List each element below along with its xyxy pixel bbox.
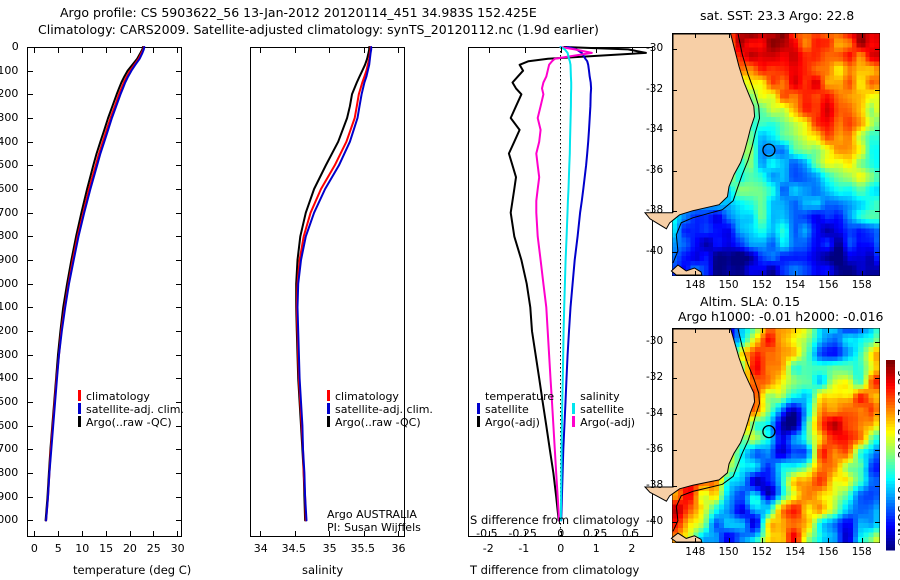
map-lat-label: -38 — [646, 479, 663, 491]
depth-tick — [27, 520, 33, 521]
legend-color-swatch — [477, 403, 480, 414]
map-lon-tick — [729, 271, 730, 276]
depth-tick-label: 1600 — [0, 419, 18, 432]
depth-tick — [27, 284, 33, 285]
legend-label: Argo(-adj) — [580, 416, 635, 429]
axis-tick — [177, 531, 178, 537]
axis-tick — [398, 47, 399, 53]
depth-tick — [176, 213, 182, 214]
depth-tick-label: 1100 — [0, 300, 18, 313]
depth-tick — [27, 473, 33, 474]
map-lat-tick — [875, 414, 880, 415]
axis-tick — [295, 531, 296, 537]
map-lat-tick — [875, 49, 880, 50]
legend-color-swatch — [477, 416, 480, 427]
depth-tick-label: 600 — [0, 182, 18, 195]
depth-tick — [27, 355, 33, 356]
axis-tick — [130, 47, 131, 53]
legend-item: satellite — [572, 403, 635, 416]
map-lat-tick — [672, 414, 677, 415]
depth-tick-label: 200 — [0, 87, 18, 100]
s-difference-axis-label: S difference from climatology — [470, 513, 640, 527]
axis-tick — [525, 531, 526, 537]
map-lat-tick — [672, 171, 677, 172]
legend-color-swatch — [327, 416, 330, 427]
axis-tick — [130, 531, 131, 537]
depth-tick — [27, 189, 33, 190]
map-lat-tick — [875, 522, 880, 523]
map-lat-tick — [672, 342, 677, 343]
map-lat-tick — [672, 378, 677, 379]
difference-legend: temperaturesatelliteArgo(-adj)salinitysa… — [477, 390, 635, 429]
map-lat-label: -30 — [646, 335, 663, 347]
depth-tick — [176, 449, 182, 450]
axis-tick — [525, 47, 526, 53]
depth-tick-label: 1700 — [0, 442, 18, 455]
axis-tick — [561, 47, 562, 53]
axis-tick-label: 35 — [323, 542, 337, 555]
map-lat-label: -36 — [646, 164, 663, 176]
depth-tick — [27, 236, 33, 237]
axis-tick-label: 2 — [628, 542, 635, 555]
depth-tick — [176, 497, 182, 498]
legend-label: satellite-adj. clim. — [335, 403, 433, 416]
axis-tick-label: 5 — [55, 542, 62, 555]
depth-tick-label: 2000 — [0, 513, 18, 526]
map-lon-tick — [762, 271, 763, 276]
map-lat-tick — [875, 130, 880, 131]
depth-tick — [27, 213, 33, 214]
axis-tick — [177, 47, 178, 53]
axis-tick — [153, 531, 154, 537]
axis-tick-label: 15 — [99, 542, 113, 555]
map-lon-label: 158 — [852, 279, 872, 291]
map-lat-tick — [875, 342, 880, 343]
legend-label: satellite — [485, 403, 529, 416]
depth-tick-label: 1000 — [0, 277, 18, 290]
sla-map-title-line1: Altim. SLA: 0.15 — [700, 294, 800, 309]
map-lon-label: 150 — [719, 279, 739, 291]
depth-tick — [27, 71, 33, 72]
map-lon-tick — [828, 328, 829, 333]
map-lat-tick — [875, 171, 880, 172]
sla-map-title-line2: Argo h1000: -0.01 h2000: -0.016 — [678, 309, 883, 324]
s-axis-tick-label: 0.5 — [622, 527, 640, 540]
salinity-axis-label: salinity — [302, 563, 343, 577]
depth-tick — [176, 142, 182, 143]
axis-tick-label: 34 — [254, 542, 268, 555]
map-lon-tick — [729, 538, 730, 543]
map-lat-label: -38 — [646, 204, 663, 216]
page-title-line2: Climatology: CARS2009. Satellite-adjuste… — [38, 22, 599, 37]
map-lon-tick — [862, 538, 863, 543]
axis-tick-label: 0 — [31, 542, 38, 555]
colorbar — [886, 360, 895, 550]
map-lon-tick — [862, 328, 863, 333]
axis-tick-label: 0 — [557, 542, 564, 555]
depth-tick — [27, 118, 33, 119]
map-lat-tick — [875, 486, 880, 487]
depth-tick — [27, 497, 33, 498]
map-lat-tick — [875, 252, 880, 253]
legend-item: satellite — [477, 403, 554, 416]
axis-tick — [82, 531, 83, 537]
axis-tick — [106, 47, 107, 53]
depth-tick — [27, 378, 33, 379]
legend-item: Argo(-adj) — [572, 416, 635, 429]
axis-tick — [58, 47, 59, 53]
legend-color-swatch — [78, 403, 81, 414]
map-lon-label: 148 — [685, 546, 705, 558]
axis-tick — [489, 47, 490, 53]
s-axis-tick-label: -0.25 — [508, 527, 536, 540]
map-lat-tick — [875, 211, 880, 212]
map-lon-tick — [762, 538, 763, 543]
depth-tick — [27, 307, 33, 308]
axis-tick — [561, 531, 562, 537]
legend-color-swatch — [572, 403, 575, 414]
legend-label: Argo(-adj) — [485, 416, 540, 429]
map-lon-tick — [762, 33, 763, 38]
depth-tick — [27, 426, 33, 427]
legend-group-heading: temperature — [485, 390, 554, 403]
legend-item: climatology — [327, 390, 433, 403]
axis-tick — [34, 47, 35, 53]
depth-tick — [176, 331, 182, 332]
map-lat-tick — [672, 90, 677, 91]
map-lat-tick — [672, 130, 677, 131]
axis-tick — [82, 47, 83, 53]
legend-label: Argo(..raw -QC) — [335, 416, 421, 429]
depth-tick — [27, 331, 33, 332]
map-lon-tick — [862, 271, 863, 276]
legend-group: temperaturesatelliteArgo(-adj) — [477, 390, 554, 429]
map-lon-label: 150 — [719, 546, 739, 558]
axis-tick — [364, 47, 365, 53]
sst-map[interactable] — [672, 33, 880, 276]
legend-group-heading: salinity — [580, 390, 635, 403]
map-lat-label: -32 — [646, 371, 663, 383]
map-lon-label: 152 — [752, 279, 772, 291]
map-lat-label: -32 — [646, 83, 663, 95]
depth-tick — [176, 284, 182, 285]
axis-tick — [58, 531, 59, 537]
map-lon-tick — [762, 328, 763, 333]
map-lat-label: -40 — [646, 515, 663, 527]
map-lat-tick — [672, 252, 677, 253]
axis-tick-label: 10 — [75, 542, 89, 555]
legend-label: climatology — [335, 390, 399, 403]
depth-tick-label: 500 — [0, 158, 18, 171]
temperature-axis-label: temperature (deg C) — [73, 563, 191, 577]
depth-tick — [176, 260, 182, 261]
legend-item: Argo(-adj) — [477, 416, 554, 429]
depth-tick-label: 900 — [0, 253, 18, 266]
axis-tick-label: 36 — [392, 542, 406, 555]
legend-label: satellite — [580, 403, 624, 416]
map-lon-tick — [828, 33, 829, 38]
map-lat-label: -30 — [646, 42, 663, 54]
depth-tick — [176, 236, 182, 237]
legend-color-swatch — [78, 416, 81, 427]
map-lon-label: 158 — [852, 546, 872, 558]
map-lat-tick — [672, 486, 677, 487]
axis-tick — [153, 47, 154, 53]
axis-tick — [632, 47, 633, 53]
legend-item: Argo(..raw -QC) — [327, 416, 433, 429]
axis-tick-label: -2 — [483, 542, 494, 555]
map-lon-tick — [729, 328, 730, 333]
map-lon-tick — [729, 33, 730, 38]
depth-tick-label: 1900 — [0, 490, 18, 503]
axis-tick — [295, 47, 296, 53]
map-lat-tick — [875, 90, 880, 91]
depth-tick — [27, 449, 33, 450]
depth-tick-label: 1500 — [0, 395, 18, 408]
salinity-legend: climatologysatellite-adj. clim.Argo(..ra… — [327, 390, 433, 429]
axis-tick-label: -1 — [518, 542, 529, 555]
depth-tick-label: 100 — [0, 64, 18, 77]
legend-color-swatch — [327, 390, 330, 401]
map-lon-tick — [828, 271, 829, 276]
page-title-line1: Argo profile: CS 5903622_56 13-Jan-2012 … — [60, 5, 537, 20]
map-lon-tick — [862, 33, 863, 38]
map-lat-tick — [672, 450, 677, 451]
depth-tick — [176, 71, 182, 72]
map-lon-label: 156 — [818, 279, 838, 291]
axis-tick — [260, 531, 261, 537]
depth-tick-label: 1300 — [0, 348, 18, 361]
map-lat-tick — [672, 211, 677, 212]
depth-tick-label: 1800 — [0, 466, 18, 479]
s-axis-tick-label: -0.5 — [476, 527, 497, 540]
map-lon-tick — [695, 328, 696, 333]
depth-tick — [27, 165, 33, 166]
map-lat-tick — [672, 522, 677, 523]
depth-tick-label: 0 — [12, 40, 19, 53]
map-lon-tick — [695, 271, 696, 276]
agency-line1: Argo AUSTRALIA — [327, 508, 417, 521]
credit-text: ©IMOS 18-Jan-2012 17:01:26 — [896, 370, 900, 548]
temperature-plot — [27, 47, 182, 537]
legend-item: Argo(..raw -QC) — [78, 416, 184, 429]
axis-tick-label: 34.5 — [282, 542, 307, 555]
map-lat-label: -34 — [646, 407, 663, 419]
axis-tick — [34, 531, 35, 537]
depth-tick — [176, 378, 182, 379]
map-lon-tick — [795, 271, 796, 276]
map-lat-tick — [672, 49, 677, 50]
map-lon-tick — [795, 328, 796, 333]
axis-tick-label: 25 — [147, 542, 161, 555]
map-lon-label: 148 — [685, 279, 705, 291]
map-lat-label: -34 — [646, 123, 663, 135]
map-lon-label: 156 — [818, 546, 838, 558]
depth-tick — [176, 118, 182, 119]
map-lon-label: 152 — [752, 546, 772, 558]
map-lat-label: -36 — [646, 443, 663, 455]
depth-tick — [176, 355, 182, 356]
legend-item: climatology — [78, 390, 184, 403]
depth-tick — [27, 47, 33, 48]
depth-tick — [176, 94, 182, 95]
salinity-plot — [250, 47, 405, 537]
temperature-legend: climatologysatellite-adj. clim.Argo(..ra… — [78, 390, 184, 429]
map-lon-tick — [695, 33, 696, 38]
axis-tick-label: 35.5 — [350, 542, 375, 555]
depth-tick — [27, 142, 33, 143]
legend-item: satellite-adj. clim. — [78, 403, 184, 416]
axis-tick — [596, 531, 597, 537]
depth-tick-label: 800 — [0, 229, 18, 242]
axis-tick — [632, 531, 633, 537]
depth-tick-label: 1400 — [0, 371, 18, 384]
depth-tick — [176, 189, 182, 190]
map-lon-label: 154 — [785, 279, 805, 291]
map-lon-label: 154 — [785, 546, 805, 558]
axis-tick-label: 30 — [171, 542, 185, 555]
legend-label: climatology — [86, 390, 150, 403]
map-lat-tick — [875, 378, 880, 379]
depth-tick-label: 1200 — [0, 324, 18, 337]
depth-tick-label: 700 — [0, 206, 18, 219]
map-lat-tick — [875, 450, 880, 451]
difference-plot — [468, 47, 653, 537]
legend-color-swatch — [78, 390, 81, 401]
legend-label: satellite-adj. clim. — [86, 403, 184, 416]
depth-tick-label: 400 — [0, 135, 18, 148]
depth-tick — [176, 520, 182, 521]
legend-label: Argo(..raw -QC) — [86, 416, 172, 429]
legend-group: salinitysatelliteArgo(-adj) — [572, 390, 635, 429]
axis-tick-label: 20 — [123, 542, 137, 555]
map-lon-tick — [795, 538, 796, 543]
depth-tick-label: 300 — [0, 111, 18, 124]
agency-line2: PI: Susan Wijffels — [327, 521, 421, 534]
depth-tick — [176, 307, 182, 308]
map-lat-label: -40 — [646, 245, 663, 257]
sst-map-title: sat. SST: 23.3 Argo: 22.8 — [700, 8, 854, 23]
axis-tick — [260, 47, 261, 53]
axis-tick — [596, 47, 597, 53]
depth-tick — [176, 165, 182, 166]
t-difference-axis-label: T difference from climatology — [470, 563, 639, 577]
legend-color-swatch — [572, 416, 575, 427]
map-lon-tick — [828, 538, 829, 543]
depth-tick — [27, 402, 33, 403]
axis-tick — [329, 47, 330, 53]
depth-tick — [27, 260, 33, 261]
legend-item: satellite-adj. clim. — [327, 403, 433, 416]
legend-color-swatch — [327, 403, 330, 414]
map-lon-tick — [795, 33, 796, 38]
axis-tick — [489, 531, 490, 537]
depth-tick — [176, 473, 182, 474]
axis-tick-label: 1 — [593, 542, 600, 555]
depth-tick — [27, 94, 33, 95]
sla-map[interactable] — [672, 328, 880, 543]
map-lon-tick — [695, 538, 696, 543]
axis-tick — [106, 531, 107, 537]
